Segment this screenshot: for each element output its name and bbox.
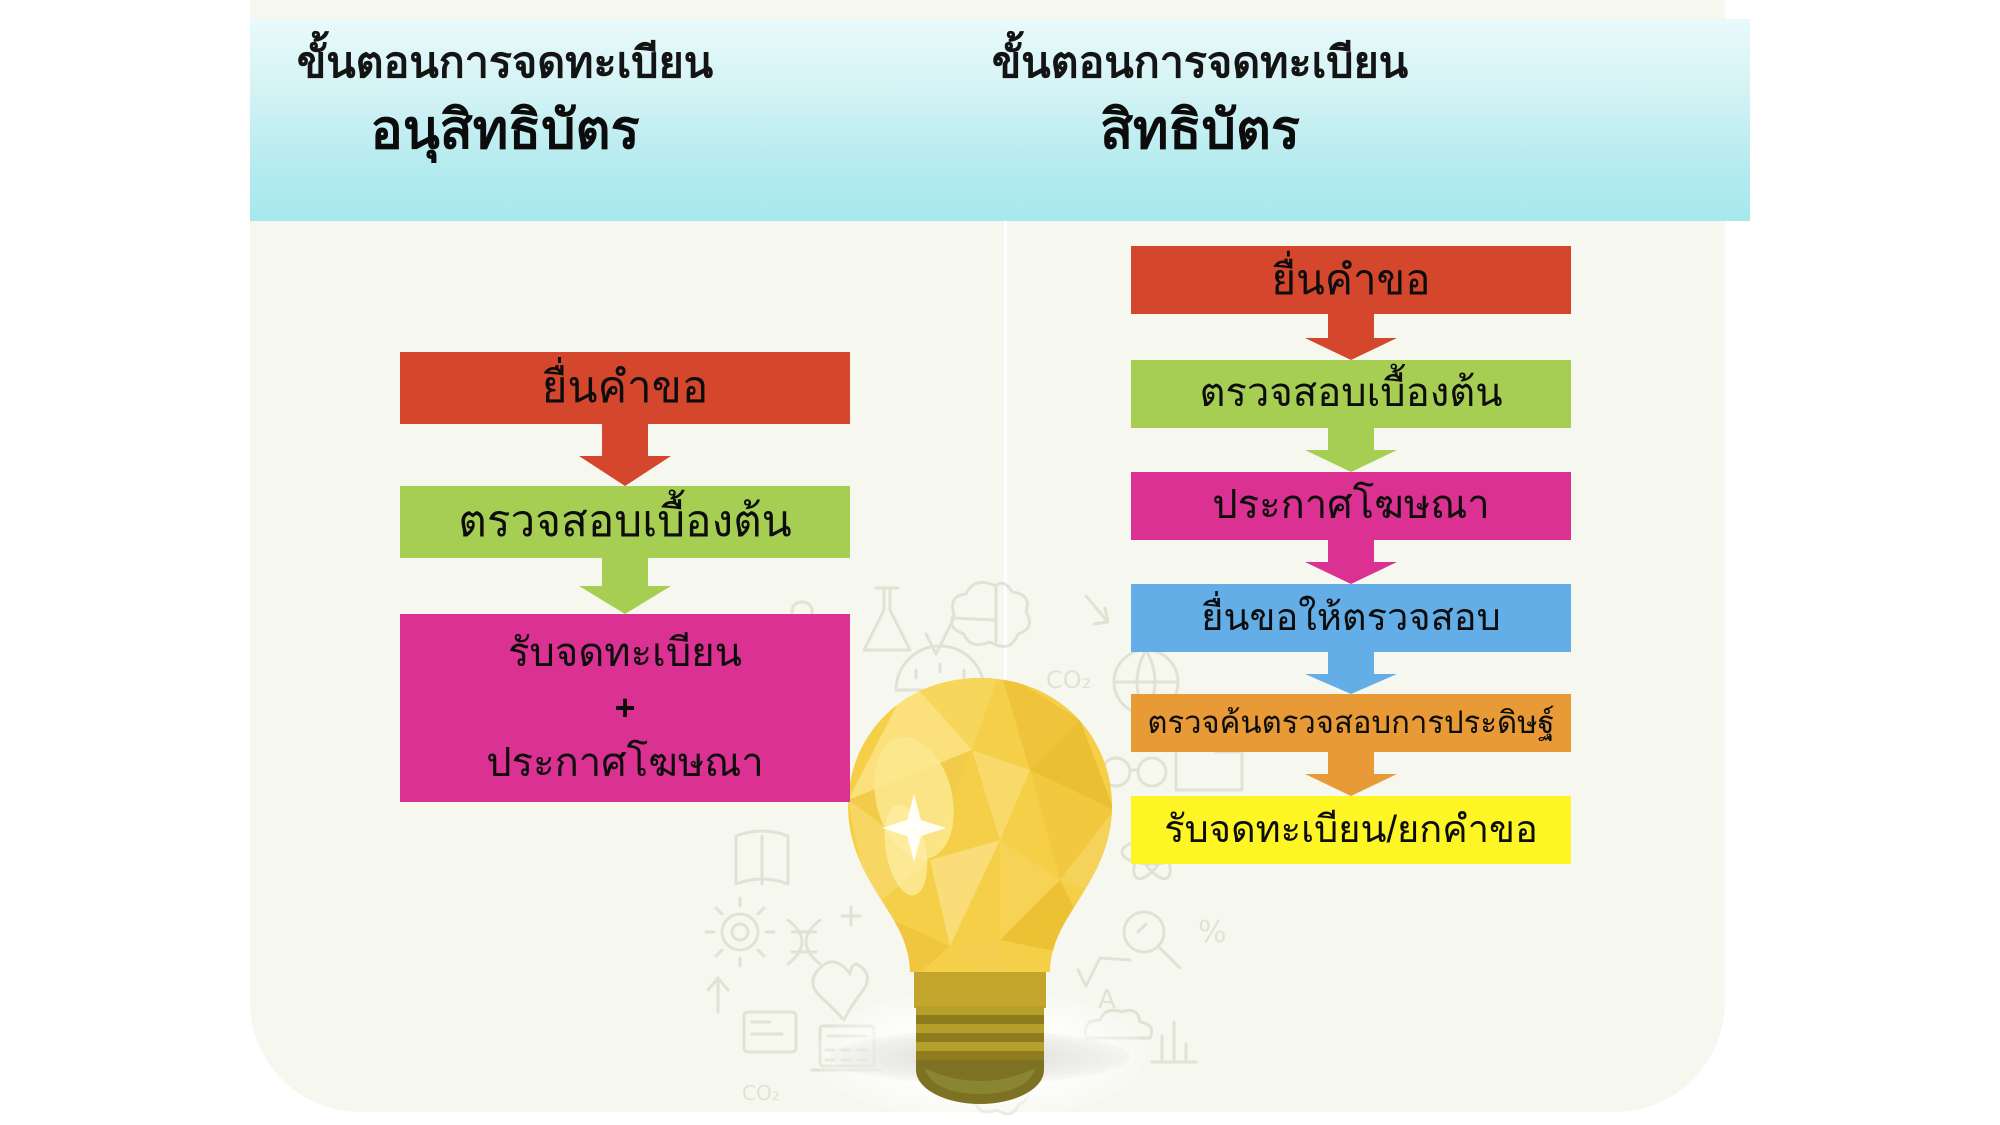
header-left-line2: อนุสิทธิบัตร	[370, 102, 639, 159]
right-step-2[interactable]: ตรวจสอบเบื้องต้น	[1131, 360, 1571, 428]
header-band: ขั้นตอนการจดทะเบียน อนุสิทธิบัตร ขั้นตอน…	[250, 19, 1750, 221]
right-arrow-3	[1131, 540, 1571, 584]
right-step-5[interactable]: ตรวจค้นตรวจสอบการประดิษฐ์	[1131, 694, 1571, 752]
flow-left: ยื่นคำขอ ตรวจสอบเบื้องต้น รับจดทะเบียน +…	[400, 352, 850, 802]
left-arrow-1	[400, 424, 850, 486]
left-step-2-label: ตรวจสอบเบื้องต้น	[452, 496, 797, 548]
right-step-4[interactable]: ยื่นขอให้ตรวจสอบ	[1131, 584, 1571, 652]
header-right-line1: ขั้นตอนการจดทะเบียน	[992, 41, 1408, 86]
right-step-6-label: รับจดทะเบียน/ยกคำขอ	[1158, 808, 1544, 853]
slide-canvas: ขั้นตอนการจดทะเบียน อนุสิทธิบัตร ขั้นตอน…	[0, 0, 2000, 1125]
right-step-5-label: ตรวจค้นตรวจสอบการประดิษฐ์	[1141, 705, 1560, 742]
right-step-3-label: ประกาศโฆษณา	[1206, 482, 1496, 529]
header-left: ขั้นตอนการจดทะเบียน อนุสิทธิบัตร	[250, 19, 760, 221]
right-step-2-label: ตรวจสอบเบื้องต้น	[1193, 370, 1508, 417]
left-step-1[interactable]: ยื่นคำขอ	[400, 352, 850, 424]
left-step-1-label: ยื่นคำขอ	[536, 362, 715, 414]
right-step-4-label: ยื่นขอให้ตรวจสอบ	[1195, 596, 1506, 641]
right-step-1[interactable]: ยื่นคำขอ	[1131, 246, 1571, 314]
header-left-line1: ขั้นตอนการจดทะเบียน	[297, 41, 713, 86]
header-right: ขั้นตอนการจดทะเบียน สิทธิบัตร	[890, 19, 1510, 221]
left-step-3-line1: รับจดทะเบียน	[502, 624, 748, 682]
left-step-3-line2: +	[608, 682, 641, 734]
left-step-3-line3: ประกาศโฆษณา	[480, 734, 770, 792]
right-step-6[interactable]: รับจดทะเบียน/ยกคำขอ	[1131, 796, 1571, 864]
left-arrow-2	[400, 558, 850, 614]
right-arrow-1	[1131, 314, 1571, 360]
right-step-3[interactable]: ประกาศโฆษณา	[1131, 472, 1571, 540]
right-step-1-label: ยื่นคำขอ	[1266, 255, 1437, 305]
left-step-2[interactable]: ตรวจสอบเบื้องต้น	[400, 486, 850, 558]
right-arrow-4	[1131, 652, 1571, 694]
flow-right: ยื่นคำขอ ตรวจสอบเบื้องต้น ประกาศโฆษณา ยื…	[1131, 246, 1571, 864]
right-arrow-2	[1131, 428, 1571, 472]
header-right-line2: สิทธิบัตร	[1100, 102, 1300, 159]
right-arrow-5	[1131, 752, 1571, 796]
left-step-3[interactable]: รับจดทะเบียน + ประกาศโฆษณา	[400, 614, 850, 802]
